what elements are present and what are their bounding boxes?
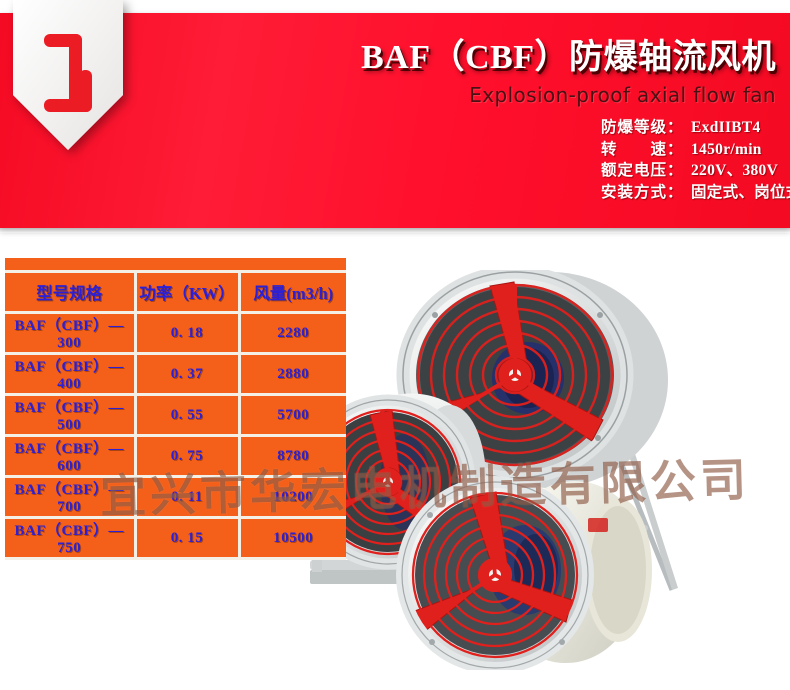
- cell-model: BAF（CBF）—750: [5, 518, 135, 559]
- specification-table: 型号规格 功率（KW） 风量(m3/h) BAF（CBF）—300 0. 18 …: [5, 258, 346, 546]
- table-row: BAF（CBF）—400 0. 37 2880: [5, 354, 346, 395]
- cell-airflow: 10200: [239, 477, 346, 518]
- spec-label: 防爆等级：: [601, 120, 691, 136]
- col-header-airflow: 风量(m3/h): [239, 272, 346, 313]
- col-header-power: 功率（KW）: [135, 272, 239, 313]
- spec-value: 固定式、岗位式、管道式: [691, 185, 790, 201]
- spec-table-grid: 型号规格 功率（KW） 风量(m3/h) BAF（CBF）—300 0. 18 …: [5, 270, 346, 560]
- table-header-row: 型号规格 功率（KW） 风量(m3/h): [5, 272, 346, 313]
- cell-model: BAF（CBF）—500: [5, 395, 135, 436]
- cell-airflow: 5700: [239, 395, 346, 436]
- cell-power: 0. 75: [135, 436, 239, 477]
- spec-value: 220V、380V: [691, 163, 778, 179]
- cell-model: BAF（CBF）—300: [5, 313, 135, 354]
- table-row: BAF（CBF）—500 0. 55 5700: [5, 395, 346, 436]
- spec-label: 安装方式：: [601, 185, 691, 201]
- spec-row-mounting: 安装方式： 固定式、岗位式、管道式: [601, 185, 776, 201]
- table-top-padding: [5, 258, 346, 270]
- table-row: BAF（CBF）—300 0. 18 2280: [5, 313, 346, 354]
- spec-label: 转 速：: [601, 142, 691, 158]
- spec-row-voltage: 额定电压： 220V、380V: [601, 163, 776, 179]
- cell-power: 0. 15: [135, 518, 239, 559]
- cell-airflow: 2280: [239, 313, 346, 354]
- cell-power: 0. 55: [135, 395, 239, 436]
- fan-front-duct-type: [402, 481, 652, 668]
- cell-airflow: 8780: [239, 436, 346, 477]
- cell-model: BAF（CBF）—400: [5, 354, 135, 395]
- cell-model: BAF（CBF）—600: [5, 436, 135, 477]
- product-photos: [300, 270, 790, 670]
- page-title: BAF（CBF）防爆轴流风机: [316, 40, 776, 76]
- spec-list: 防爆等级： ExdIIBT4 转 速： 1450r/min 额定电压： 220V…: [316, 120, 776, 206]
- table-row: BAF（CBF）—700 0. 11 10200: [5, 477, 346, 518]
- spec-row-speed: 转 速： 1450r/min: [601, 142, 776, 158]
- shield-badge-numeral-1-icon: [13, 0, 123, 225]
- title-block: BAF（CBF）防爆轴流风机 Explosion-proof axial flo…: [316, 40, 776, 107]
- page-subtitle: Explosion-proof axial flow fan: [316, 83, 776, 107]
- cell-airflow: 2880: [239, 354, 346, 395]
- spec-row-explosion-grade: 防爆等级： ExdIIBT4: [601, 120, 776, 136]
- spec-label: 额定电压：: [601, 163, 691, 179]
- cell-airflow: 10500: [239, 518, 346, 559]
- spec-value: 1450r/min: [691, 142, 762, 158]
- cell-power: 0. 18: [135, 313, 239, 354]
- table-row: BAF（CBF）—750 0. 15 10500: [5, 518, 346, 559]
- spec-value: ExdIIBT4: [691, 120, 761, 136]
- cell-model: BAF（CBF）—700: [5, 477, 135, 518]
- company-logo: [13, 0, 123, 225]
- table-row: BAF（CBF）—600 0. 75 8780: [5, 436, 346, 477]
- cell-power: 0. 37: [135, 354, 239, 395]
- col-header-model: 型号规格: [5, 272, 135, 313]
- cell-power: 0. 11: [135, 477, 239, 518]
- table-bottom-padding: [5, 560, 346, 574]
